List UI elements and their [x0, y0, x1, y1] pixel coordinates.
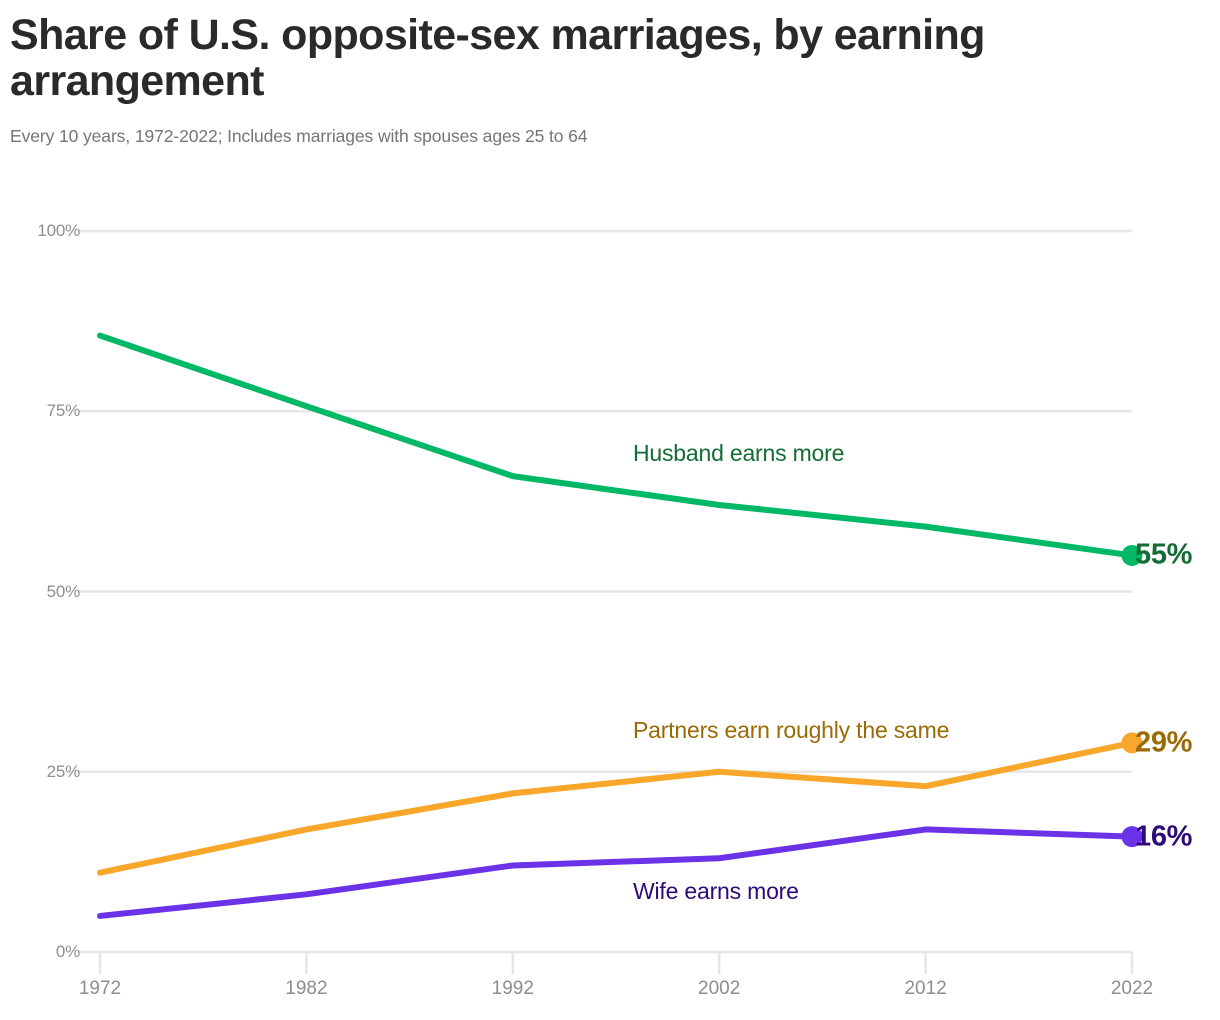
x-tick-label-2012: 2012 — [904, 978, 946, 1000]
x-tick-label-1992: 1992 — [492, 978, 534, 1000]
end-value-label-husband: 55% — [1135, 539, 1192, 572]
series-annotation-partners-earn-same: Partners earn roughly the same — [633, 717, 949, 744]
y-tick-label-0: 0% — [8, 942, 80, 962]
y-tick-label-25: 25% — [8, 762, 80, 782]
end-value-label-partners: 29% — [1135, 726, 1192, 759]
chart-plot-area: 100% 75% 50% 25% 0% 1972 1982 1992 2002 … — [0, 0, 1220, 1020]
y-tick-label-75: 75% — [8, 401, 80, 421]
x-tick-label-2002: 2002 — [698, 978, 740, 1000]
y-tick-label-50: 50% — [8, 582, 80, 602]
series-annotation-wife-earns-more: Wife earns more — [633, 878, 799, 905]
series-line-0 — [100, 336, 1132, 556]
x-tick-label-1972: 1972 — [79, 978, 121, 1000]
x-tick-marks-group — [100, 952, 1132, 974]
chart-page: Share of U.S. opposite-sex marriages, by… — [0, 0, 1220, 1020]
end-value-label-wife: 16% — [1135, 820, 1192, 853]
y-tick-label-100: 100% — [8, 221, 80, 241]
series-line-1 — [100, 743, 1132, 873]
series-annotation-husband-earns-more: Husband earns more — [633, 440, 844, 467]
x-tick-label-2022: 2022 — [1111, 978, 1153, 1000]
line-chart-svg — [0, 0, 1220, 1020]
x-tick-label-1982: 1982 — [285, 978, 327, 1000]
series-lines-group — [100, 336, 1132, 916]
